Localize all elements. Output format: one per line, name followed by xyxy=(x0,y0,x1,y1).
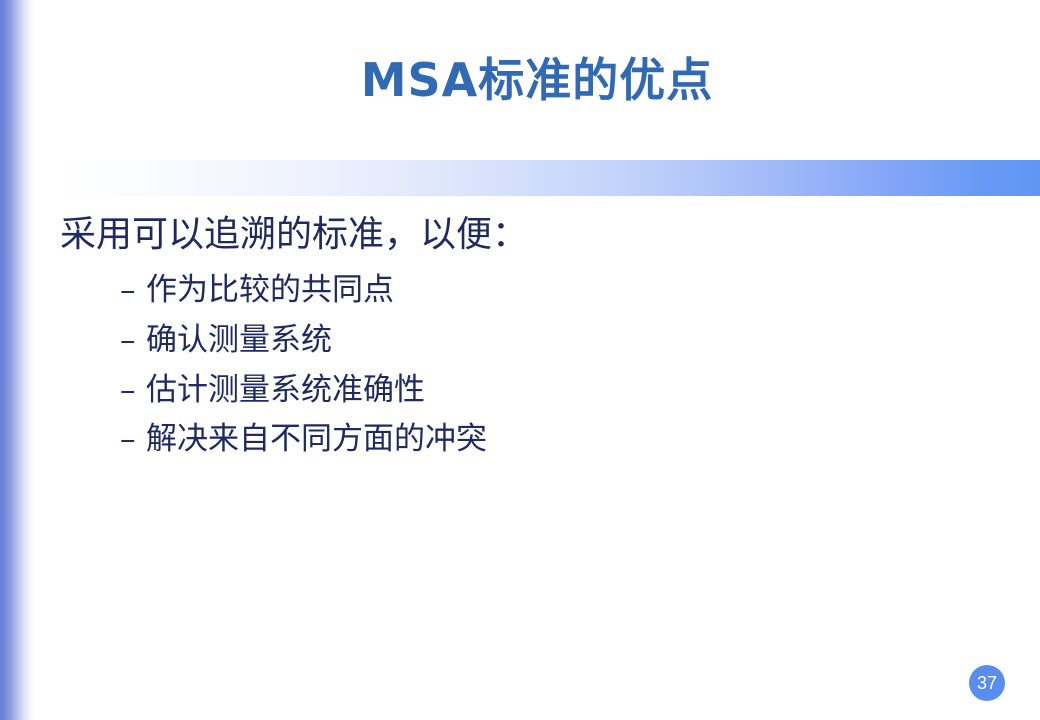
dash-bullet-icon: – xyxy=(120,419,146,461)
list-item-label: 估计测量系统准确性 xyxy=(146,370,425,412)
list-item-label: 作为比较的共同点 xyxy=(146,270,394,312)
dash-bullet-icon: – xyxy=(120,370,146,412)
slide-canvas: MSA标准的优点 采用可以追溯的标准，以便： – 作为比较的共同点 – 确认测量… xyxy=(0,0,1040,720)
list-item: – 确认测量系统 xyxy=(60,320,990,362)
list-item-label: 解决来自不同方面的冲突 xyxy=(146,419,487,461)
dash-bullet-icon: – xyxy=(120,320,146,362)
slide-body: 采用可以追溯的标准，以便： – 作为比较的共同点 – 确认测量系统 – 估计测量… xyxy=(60,214,990,469)
title-divider-bar xyxy=(55,160,1040,196)
left-accent-stripe xyxy=(0,0,34,720)
dash-bullet-icon: – xyxy=(120,270,146,312)
bullet-list: – 作为比较的共同点 – 确认测量系统 – 估计测量系统准确性 – 解决来自不同… xyxy=(60,270,990,460)
page-title: MSA标准的优点 xyxy=(34,52,1040,110)
list-item-label: 确认测量系统 xyxy=(146,320,332,362)
list-item: – 估计测量系统准确性 xyxy=(60,370,990,412)
list-item: – 作为比较的共同点 xyxy=(60,270,990,312)
body-lead-line: 采用可以追溯的标准，以便： xyxy=(60,214,990,256)
list-item: – 解决来自不同方面的冲突 xyxy=(60,419,990,461)
page-number-badge: 37 xyxy=(969,665,1005,701)
